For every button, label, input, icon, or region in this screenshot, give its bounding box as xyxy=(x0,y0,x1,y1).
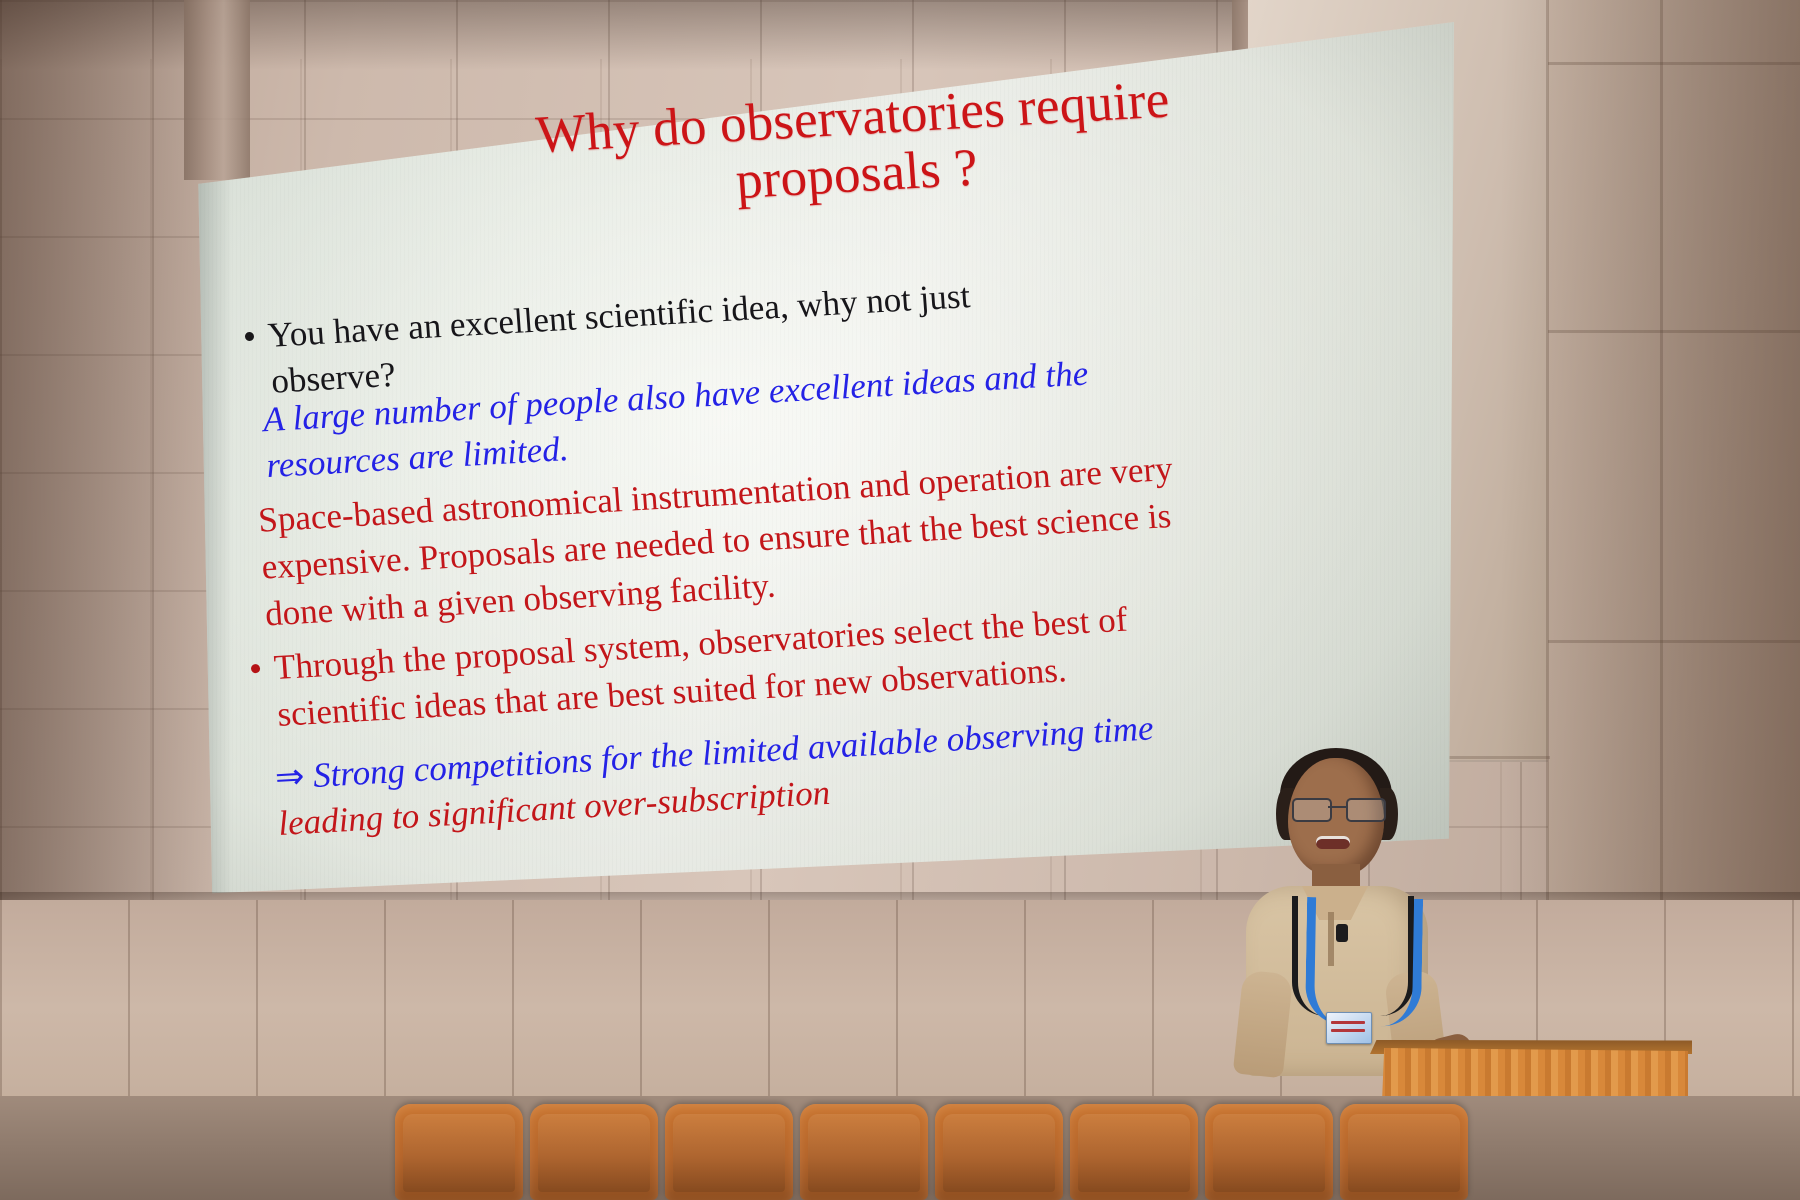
chair-back xyxy=(530,1104,658,1200)
chair-back xyxy=(1070,1104,1198,1200)
chair-back xyxy=(665,1104,793,1200)
badge-line-2 xyxy=(1331,1029,1365,1032)
speaker-lanyard-blue xyxy=(1305,897,1423,1027)
chair-back xyxy=(800,1104,928,1200)
double-arrow-icon: ⇒ xyxy=(274,757,306,798)
chair-back xyxy=(395,1104,523,1200)
bullet-marker-icon xyxy=(245,332,255,341)
speaker-figure xyxy=(1240,736,1570,1066)
glasses-bridge xyxy=(1328,806,1346,808)
speaker-glasses-icon xyxy=(1290,798,1384,818)
presentation-photo-scene: Why do observatories require proposals ?… xyxy=(0,0,1800,1200)
glasses-lens-left xyxy=(1292,798,1332,822)
bullet-marker-icon xyxy=(251,664,261,673)
clip-microphone-icon xyxy=(1336,924,1348,942)
glasses-lens-right xyxy=(1346,798,1386,822)
slide-title: Why do observatories require proposals ? xyxy=(451,67,1258,227)
speaker-mouth xyxy=(1316,836,1350,849)
chair-back xyxy=(1205,1104,1333,1200)
chair-back xyxy=(1340,1104,1468,1200)
chair-back xyxy=(935,1104,1063,1200)
badge-line-1 xyxy=(1331,1021,1365,1024)
speaker-name-badge xyxy=(1326,1012,1372,1044)
